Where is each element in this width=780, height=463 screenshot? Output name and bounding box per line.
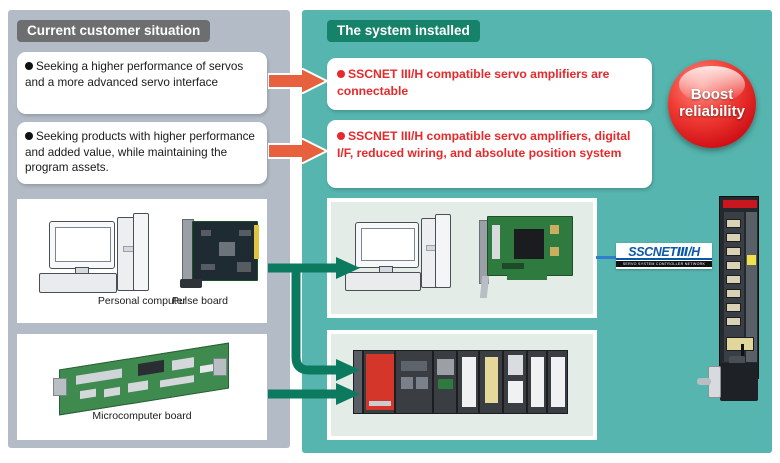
bullet-icon [337, 132, 345, 140]
caption-pulse-board: Pulse board [135, 295, 265, 307]
sscnet-logo-main: SSCNETⅢ/H [616, 244, 712, 259]
boost-reliability-badge: Boost reliability [668, 60, 756, 148]
left-callout-1: Seeking a higher performance of servos a… [17, 52, 267, 114]
pulse-board-pcb [192, 221, 258, 281]
plc-rack-icon [353, 350, 568, 414]
boost-reliability-text: Boost reliability [668, 86, 756, 120]
right-callout-1-text: SSCNET III/H compatible servo amplifiers… [337, 66, 646, 99]
left-callout-1-text: Seeking a higher performance of servos a… [25, 59, 261, 90]
left-callout-2-text: Seeking products with higher performance… [25, 129, 261, 176]
pulse-board-edge [254, 225, 259, 259]
pc-tower-side [435, 214, 451, 288]
left-callout-1-label: Seeking a higher performance of servos a… [25, 60, 243, 89]
left-figure-pc-pulseboard: Personal computer Pulse board [17, 199, 267, 323]
left-callout-2: Seeking products with higher performance… [17, 122, 267, 184]
right-callout-2: SSCNET III/H compatible servo amplifiers… [327, 120, 652, 188]
sscnet-logo-bar [616, 258, 712, 260]
pulse-board-foot [180, 279, 202, 288]
pcie-gold-finger [507, 274, 547, 280]
pcie-card-pcb [487, 216, 573, 276]
left-callout-2-label: Seeking products with higher performance… [25, 130, 255, 174]
orange-arrow-1-icon [268, 68, 328, 94]
keyboard-icon [39, 273, 117, 293]
boost-line-2: reliability [679, 103, 745, 120]
left-figure-microcomputer-board: Microcomputer board [17, 334, 267, 440]
sscnet-logo-subtitle: SERVO SYSTEM CONTROLLER NETWORK [616, 261, 712, 267]
right-callout-2-label: SSCNET III/H compatible servo amplifiers… [337, 129, 630, 160]
bullet-icon [25, 62, 33, 70]
green-connector-arrows-icon [262, 252, 372, 412]
right-callout-1-label: SSCNET III/H compatible servo amplifiers… [337, 67, 609, 98]
right-callout-1: SSCNET III/H compatible servo amplifiers… [327, 58, 652, 110]
board-bracket-right [213, 358, 227, 376]
board-bracket-left [53, 378, 67, 396]
caption-microcomputer-board: Microcomputer board [17, 410, 267, 422]
monitor-icon [49, 221, 115, 269]
orange-arrow-2-icon [268, 138, 328, 164]
servo-motor-icon [705, 358, 771, 406]
boost-line-1: Boost [691, 86, 734, 103]
right-callout-2-text: SSCNET III/H compatible servo amplifiers… [337, 128, 646, 161]
microcomputer-pcb [59, 343, 229, 416]
diagram-canvas: Current customer situation Seeking a hig… [0, 0, 780, 463]
bullet-icon [25, 132, 33, 140]
right-panel-header: The system installed [327, 20, 480, 42]
bullet-icon [337, 70, 345, 78]
pc-tower-side [133, 213, 149, 291]
left-panel-header: Current customer situation [17, 20, 210, 42]
pcie-bracket-tail [480, 276, 489, 298]
sscnet-logo: SSCNETⅢ/H SERVO SYSTEM CONTROLLER NETWOR… [616, 243, 712, 269]
